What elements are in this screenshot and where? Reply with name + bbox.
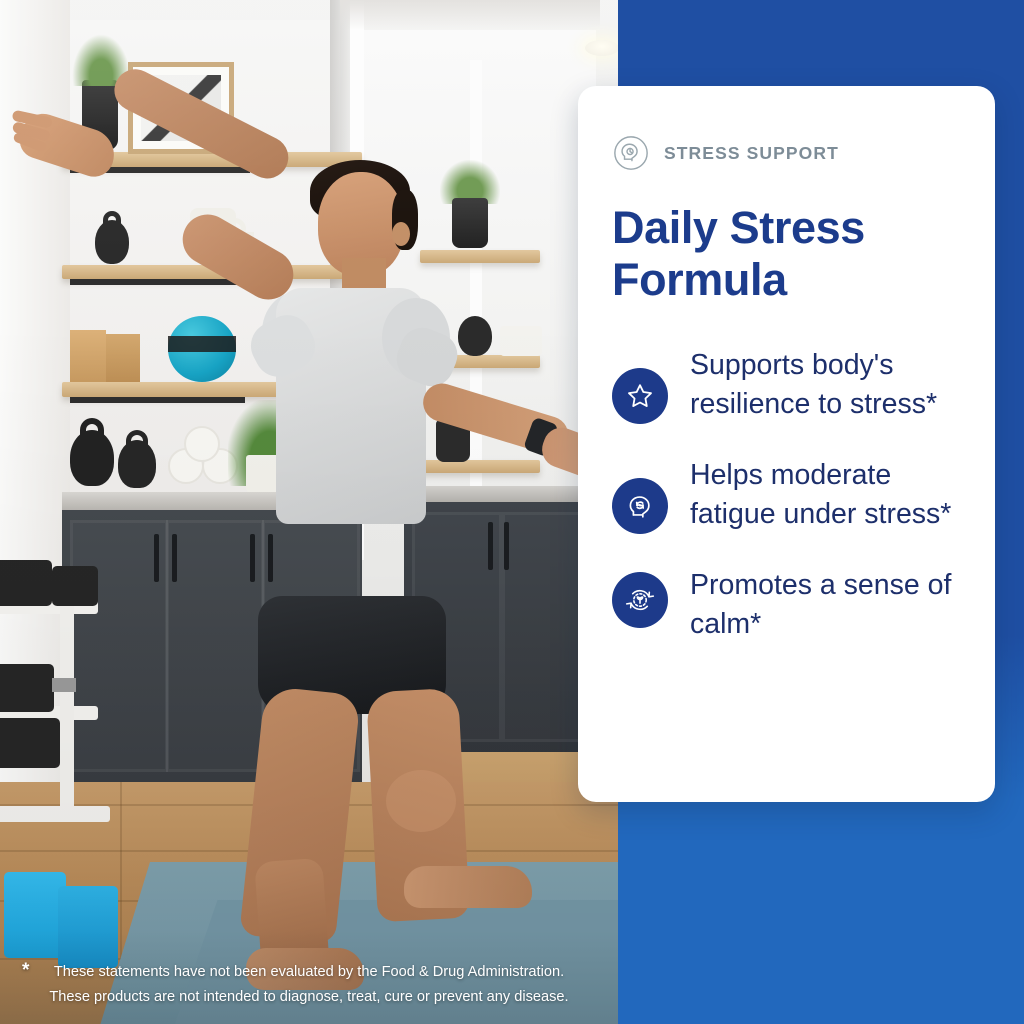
fda-disclaimer: * These statements have not been evaluat… [0,960,618,1010]
promo-graphic: * These statements have not been evaluat… [0,0,1024,1024]
benefit-text: Promotes a sense of calm* [690,564,961,644]
head-spiral-icon [612,134,650,172]
category-badge: STRESS SUPPORT [612,134,961,172]
list-item: Helps moderate fatigue under stress* [612,454,961,534]
title-line-2: Formula [612,254,787,305]
list-item: Supports body's resilience to stress* [612,344,961,424]
star-icon [612,368,668,424]
page-title: Daily StressFormula [612,202,961,306]
sprout-cycle-icon [612,572,668,628]
product-info-card: STRESS SUPPORT Daily StressFormula Suppo… [578,86,995,802]
benefits-list: Supports body's resilience to stress* He… [612,344,961,644]
disclaimer-line-2: These products are not intended to diagn… [0,985,618,1010]
list-item: Promotes a sense of calm* [612,564,961,644]
lifestyle-photo [0,0,618,1024]
disclaimer-line-1: These statements have not been evaluated… [0,960,618,985]
disclaimer-asterisk: * [22,958,29,983]
category-label: STRESS SUPPORT [664,143,839,164]
benefit-text: Helps moderate fatigue under stress* [690,454,961,534]
benefit-text: Supports body's resilience to stress* [690,344,961,424]
head-spiral-icon [612,478,668,534]
title-line-1: Daily Stress [612,202,865,253]
